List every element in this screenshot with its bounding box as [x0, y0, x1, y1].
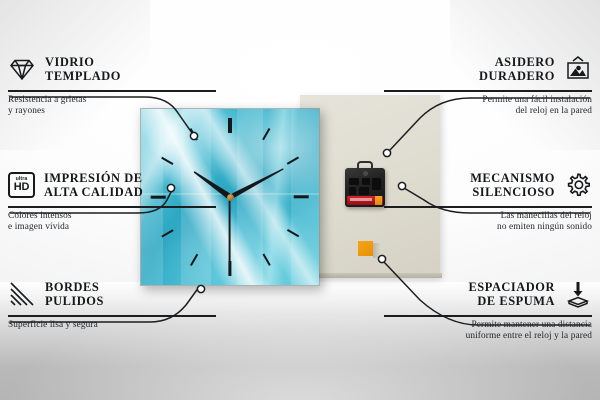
feature-divider [384, 206, 592, 208]
feature-title: BORDES PULIDOS [45, 280, 104, 309]
feature-description: Superficie lisa y segura [8, 320, 216, 331]
feature-mecanismo-silencioso: MECANISMO SILENCIOSO Las manecillas del … [384, 168, 592, 234]
feature-title: MECANISMO SILENCIOSO [470, 171, 555, 200]
feature-divider [8, 315, 216, 317]
feature-description: Resistencia a grietas y rayones [8, 95, 216, 118]
feature-title: ESPACIADOR DE ESPUMA [468, 280, 555, 309]
arrow-down-pad-icon [564, 280, 592, 308]
feature-title: VIDRIO TEMPLADO [45, 55, 121, 84]
feature-divider [8, 206, 216, 208]
infographic-stage: VIDRIO TEMPLADO Resistencia a grietas y … [0, 0, 600, 400]
leader-endpoint-vidrio [190, 132, 197, 139]
feature-espaciador-espuma: ESPACIADOR DE ESPUMA Permite mantener un… [384, 277, 592, 343]
gear-icon [564, 171, 592, 199]
feature-description: Las manecillas del reloj no emiten ningú… [384, 211, 592, 234]
feature-divider [384, 90, 592, 92]
feature-description: Permite mantener una distancia uniforme … [384, 320, 592, 343]
leader-endpoint-asidero [383, 149, 390, 156]
feature-asidero-duradero: ASIDERO DURADERO Permite una fácil insta… [384, 52, 592, 118]
polished-edges-icon [8, 280, 36, 308]
leader-endpoint-espaciador [378, 255, 385, 262]
feature-bordes-pulidos: BORDES PULIDOS Superficie lisa y segura [8, 277, 216, 331]
feature-title: ASIDERO DURADERO [479, 55, 555, 84]
feature-divider [8, 90, 216, 92]
feature-impresion-alta-calidad: ultra HD IMPRESIÓN DE ALTA CALIDAD Color… [8, 168, 216, 234]
hanging-frame-icon [564, 55, 592, 83]
ultra-hd-icon-label-main: HD [14, 182, 30, 193]
diamond-icon [8, 55, 36, 83]
feature-divider [384, 315, 592, 317]
ultra-hd-icon: ultra HD [8, 172, 35, 198]
feature-title: IMPRESIÓN DE ALTA CALIDAD [44, 171, 143, 200]
feature-description: Colores intensos e imagen vívida [8, 211, 216, 234]
feature-description: Permite una fácil instalación del reloj … [384, 95, 592, 118]
feature-vidrio-templado: VIDRIO TEMPLADO Resistencia a grietas y … [8, 52, 216, 118]
